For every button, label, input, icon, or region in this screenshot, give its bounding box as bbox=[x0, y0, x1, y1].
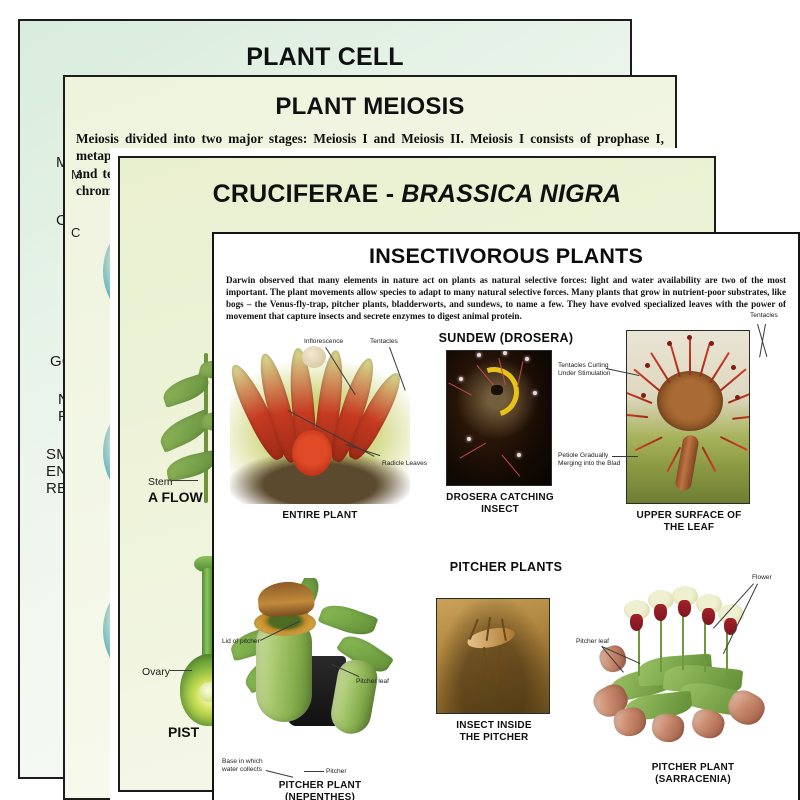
caption-line-2: (SARRACENIA) bbox=[655, 774, 731, 785]
caption-insect-inside-pitcher: INSECT INSIDE THE PITCHER bbox=[428, 720, 560, 744]
photo-upper-surface-of-leaf bbox=[626, 330, 750, 504]
caption-entire-plant: ENTIRE PLANT bbox=[230, 510, 410, 522]
caption-line-2: THE PITCHER bbox=[460, 732, 529, 743]
poster-plant-meiosis-title: PLANT MEIOSIS bbox=[65, 77, 675, 121]
plant-meiosis-side-label-c: C bbox=[71, 225, 80, 240]
cruciferae-title-family: CRUCIFERAE - bbox=[213, 180, 402, 208]
callout-lid-of-pitcher: Lid of pitcher bbox=[222, 638, 260, 646]
poster-insectivorous-plants[interactable]: INSECTIVOROUS PLANTS Darwin observed tha… bbox=[212, 232, 800, 800]
caption-line-2: (NEPENTHES) bbox=[285, 792, 355, 800]
caption-line-2: INSECT bbox=[481, 504, 519, 515]
caption-line-1: PITCHER PLANT bbox=[279, 780, 362, 791]
photo-pitcher-plant-nepenthes bbox=[226, 578, 410, 744]
plant-meiosis-side-label-m: M bbox=[71, 167, 82, 182]
photo-insect-inside-pitcher bbox=[436, 598, 550, 714]
cruciferae-caption-pistil: PIST bbox=[168, 724, 199, 740]
photo-sundew-entire-plant bbox=[230, 344, 410, 504]
callout-base-water-collects: Base in which water collects bbox=[222, 758, 263, 774]
insectivorous-title: INSECTIVOROUS PLANTS bbox=[222, 244, 790, 269]
callout-radicle-leaves: Radicle Leaves bbox=[382, 460, 427, 468]
callout-tentacles-upper-surface: Tentacles bbox=[750, 312, 778, 320]
caption-pitcher-plant-sarracenia: PITCHER PLANT (SARRACENIA) bbox=[608, 762, 778, 786]
caption-line-1: INSECT INSIDE bbox=[456, 720, 531, 731]
poster-plant-cell-title: PLANT CELL bbox=[20, 21, 630, 72]
insectivorous-intro-paragraph: Darwin observed that many elements in na… bbox=[226, 274, 786, 322]
caption-line-1: PITCHER PLANT bbox=[652, 762, 735, 773]
callout-tentacles-entire: Tentacles bbox=[370, 338, 398, 346]
caption-line-2: THE LEAF bbox=[664, 522, 715, 533]
caption-drosera-catching-insect: DROSERA CATCHING INSECT bbox=[436, 492, 564, 516]
cruciferae-label-ovary: Ovary bbox=[142, 666, 170, 678]
photo-drosera-catching-insect bbox=[446, 350, 552, 486]
poster-cruciferae-title: CRUCIFERAE - BRASSICA NIGRA bbox=[120, 158, 714, 209]
callout-pitcher: Pitcher bbox=[326, 768, 347, 776]
callout-tentacles-curling: Tentacles Curling Under Stimulation bbox=[558, 362, 610, 378]
callout-flower-sarracenia: Flower bbox=[752, 574, 772, 582]
callout-pitcher-leaf-sarracenia: Pitcher leaf bbox=[576, 638, 609, 646]
caption-line-1: UPPER SURFACE OF bbox=[637, 510, 742, 521]
poster-stack-canvas: PLANT CELL M C GOL NU P SMO END RETI PLA… bbox=[0, 0, 800, 800]
section-heading-pitcher-plants: PITCHER PLANTS bbox=[214, 560, 798, 574]
callout-inflorescence: Inflorescence bbox=[304, 338, 343, 346]
caption-upper-surface-of-leaf: UPPER SURFACE OF THE LEAF bbox=[622, 510, 756, 534]
callout-pitcher-leaf-nepenthes: Pitcher leaf bbox=[356, 678, 389, 686]
cruciferae-title-species: BRASSICA NIGRA bbox=[401, 180, 621, 208]
caption-pitcher-plant-nepenthes: PITCHER PLANT (NEPENTHES) bbox=[230, 780, 410, 800]
cruciferae-caption-flowering-plant: A FLOW bbox=[148, 489, 203, 505]
callout-petiole-merging: Petiole Gradually Merging into the Blad bbox=[558, 452, 620, 468]
cruciferae-label-stem: Stem bbox=[148, 476, 173, 488]
caption-line-1: DROSERA CATCHING bbox=[446, 492, 554, 503]
